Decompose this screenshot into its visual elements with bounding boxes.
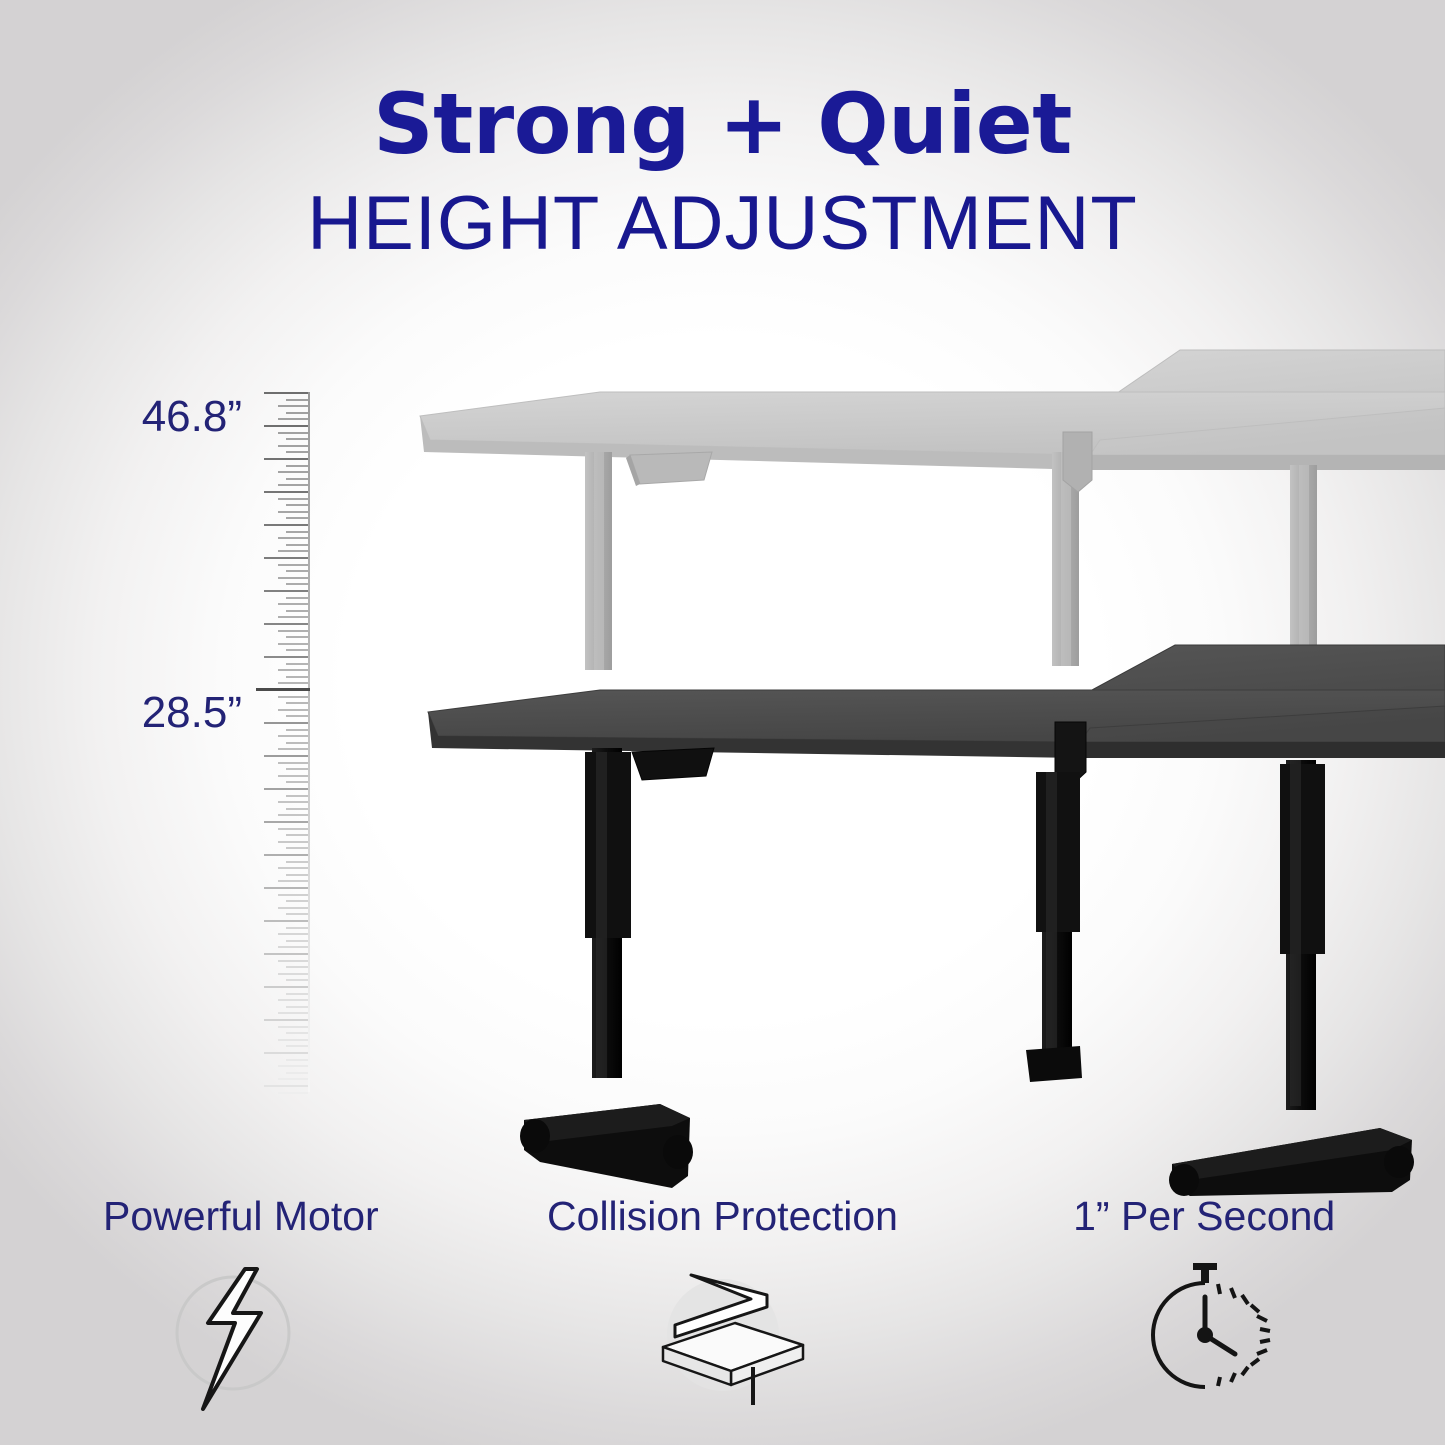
ruler-tick <box>286 742 308 744</box>
ruler-tick <box>286 649 308 651</box>
ruler-tick <box>286 517 308 519</box>
ruler-tick <box>278 550 308 552</box>
ruler-tick <box>278 1012 308 1014</box>
ruler-tick <box>286 913 308 915</box>
ruler-tick <box>278 643 308 645</box>
ruler-tick <box>278 498 308 500</box>
ruler-tick <box>278 405 308 407</box>
ruler-tick <box>264 491 308 493</box>
feature-speed: 1” Per Second <box>963 1196 1445 1445</box>
ruler-tick <box>278 669 308 671</box>
ruler-tick <box>278 933 308 935</box>
ruler-tick <box>264 623 308 625</box>
ruler-tick <box>286 544 308 546</box>
ruler-tick <box>286 478 308 480</box>
ruler-tick <box>278 537 308 539</box>
ruler-tick <box>286 993 308 995</box>
ruler-tick <box>286 583 308 585</box>
feature-collision-protection: Collision Protection <box>482 1196 964 1445</box>
ruler-tick <box>278 880 308 882</box>
ruler-tick <box>278 1078 308 1080</box>
ruler-tick <box>286 834 308 836</box>
ruler-tick <box>286 610 308 612</box>
ruler-tick <box>286 861 308 863</box>
ruler-tick <box>278 907 308 909</box>
raised-desk-group <box>420 350 1445 670</box>
ruler-tick <box>286 808 308 810</box>
ruler-tick <box>286 847 308 849</box>
ruler-tick <box>264 590 308 592</box>
lowered-desk-group <box>428 645 1445 1196</box>
ruler-tick <box>264 854 308 856</box>
ruler-tick <box>286 1032 308 1034</box>
ruler-tick <box>264 425 308 427</box>
ruler-tick <box>286 927 308 929</box>
headline-block: Strong + Quiet HEIGHT ADJUSTMENT <box>0 82 1445 262</box>
ruler-tick <box>264 821 308 823</box>
ruler-tick <box>286 1072 308 1074</box>
ruler-tick <box>278 1026 308 1028</box>
ruler-tick <box>264 557 308 559</box>
ruler-tick <box>278 682 308 684</box>
ruler-tick <box>286 465 308 467</box>
ruler-tick <box>264 458 308 460</box>
page-subtitle: HEIGHT ADJUSTMENT <box>0 186 1445 262</box>
ruler-tick <box>286 979 308 981</box>
ruler-tick <box>278 432 308 434</box>
ruler-tick <box>278 709 308 711</box>
page-title: Strong + Quiet <box>0 82 1445 166</box>
ruler-spine <box>308 392 310 1092</box>
ruler-tick <box>264 722 308 724</box>
ruler-tick <box>286 781 308 783</box>
ruler-tick <box>278 1039 308 1041</box>
ruler-tick <box>278 946 308 948</box>
ruler-tick <box>286 702 308 704</box>
ruler-tick <box>278 814 308 816</box>
lightning-bolt-icon <box>153 1261 328 1421</box>
ruler-tick <box>286 729 308 731</box>
ruler-tick <box>264 788 308 790</box>
ruler-tick <box>286 412 308 414</box>
min-height-label: 28.5” <box>72 688 242 738</box>
ruler-tick <box>286 966 308 968</box>
ruler-tick <box>264 1052 308 1054</box>
ruler-tick <box>286 768 308 770</box>
ruler-tick <box>278 484 308 486</box>
ruler-tick <box>278 1065 308 1067</box>
ruler-tick <box>286 636 308 638</box>
ruler-tick <box>278 894 308 896</box>
ruler-tick <box>264 887 308 889</box>
ruler-tick <box>278 603 308 605</box>
ruler-tick <box>286 570 308 572</box>
ruler-tick <box>278 577 308 579</box>
ruler-tick <box>286 597 308 599</box>
ruler-tick <box>278 471 308 473</box>
height-ruler <box>256 392 310 1092</box>
ruler-tick <box>264 755 308 757</box>
ruler-tick <box>278 999 308 1001</box>
ruler-tick <box>278 762 308 764</box>
ruler-tick <box>278 1092 308 1094</box>
ruler-indicator-tick <box>256 688 310 691</box>
ruler-tick <box>278 445 308 447</box>
ruler-tick <box>264 656 308 658</box>
ruler-tick <box>286 874 308 876</box>
ruler-tick <box>286 795 308 797</box>
ruler-tick <box>278 696 308 698</box>
ruler-tick <box>278 801 308 803</box>
ruler-tick <box>286 531 308 533</box>
ruler-tick <box>286 1045 308 1047</box>
ruler-tick <box>264 524 308 526</box>
ruler-tick <box>278 511 308 513</box>
feature-label: Powerful Motor <box>103 1196 379 1237</box>
ruler-tick <box>264 392 308 394</box>
ruler-tick <box>278 630 308 632</box>
ruler-tick <box>264 1019 308 1021</box>
ruler-tick <box>286 399 308 401</box>
ruler-tick <box>286 1006 308 1008</box>
ruler-tick <box>286 438 308 440</box>
ruler-tick <box>264 1085 308 1087</box>
max-height-label: 46.8” <box>72 392 242 442</box>
ruler-tick <box>278 418 308 420</box>
ruler-tick <box>286 900 308 902</box>
colliding-desks-icon <box>635 1261 810 1421</box>
feature-label: Collision Protection <box>547 1196 898 1237</box>
ruler-tick <box>286 715 308 717</box>
ruler-tick <box>286 504 308 506</box>
ruler-tick <box>286 1059 308 1061</box>
ruler-tick <box>278 960 308 962</box>
ruler-tick <box>286 663 308 665</box>
feature-row: Powerful Motor Collision Protection <box>0 1196 1445 1445</box>
ruler-tick <box>286 940 308 942</box>
ruler-tick <box>286 451 308 453</box>
ruler-tick <box>278 616 308 618</box>
feature-powerful-motor: Powerful Motor <box>0 1196 482 1445</box>
ruler-tick <box>278 973 308 975</box>
ruler-tick <box>278 841 308 843</box>
feature-label: 1” Per Second <box>1073 1196 1335 1237</box>
ruler-tick <box>278 564 308 566</box>
infographic-canvas: Strong + Quiet HEIGHT ADJUSTMENT <box>0 0 1445 1445</box>
ruler-tick <box>278 748 308 750</box>
ruler-tick <box>264 920 308 922</box>
ruler-tick <box>264 953 308 955</box>
ruler-tick <box>264 986 308 988</box>
ruler-tick <box>278 775 308 777</box>
ruler-tick <box>278 735 308 737</box>
ruler-tick <box>286 676 308 678</box>
ruler-tick <box>278 867 308 869</box>
stopwatch-icon <box>1117 1261 1292 1421</box>
ruler-tick <box>278 828 308 830</box>
